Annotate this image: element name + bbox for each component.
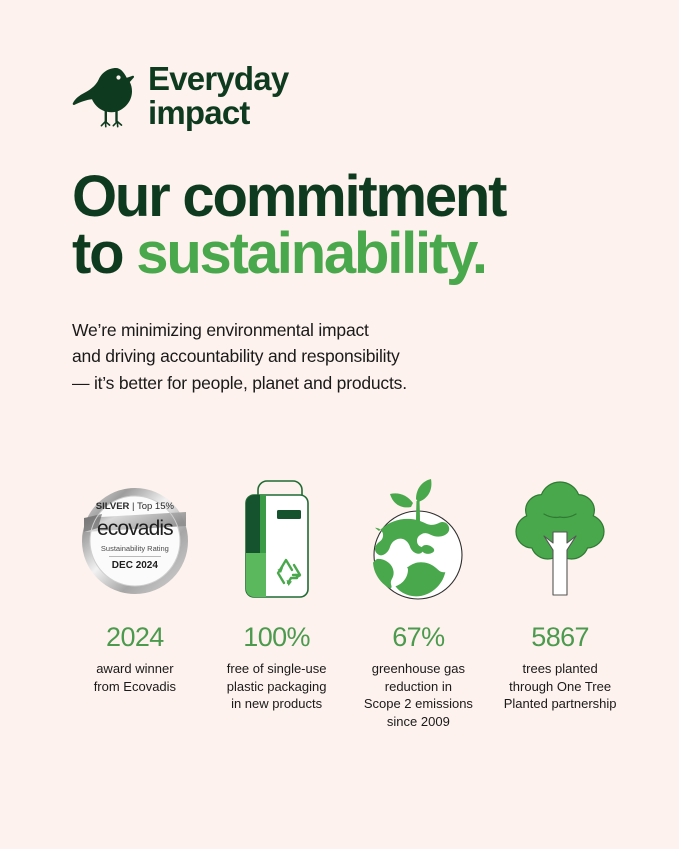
- stat-value: 67%: [392, 624, 444, 651]
- stat-value: 5867: [531, 624, 589, 651]
- stat-caption: greenhouse gas reduction in Scope 2 emis…: [364, 660, 473, 730]
- caption-line: since 2009: [387, 714, 450, 729]
- stat-value: 2024: [106, 624, 164, 651]
- brand-name: Everyday impact: [148, 62, 288, 129]
- brand-name-line2: impact: [148, 96, 288, 130]
- ecovadis-medal-icon: SILVER | Top 15% ecovadis Sustainability…: [76, 481, 194, 599]
- stat-item-emissions: 67% greenhouse gas reduction in Scope 2 …: [348, 470, 490, 730]
- caption-line: through One Tree: [509, 679, 611, 694]
- intro-line-3: — it’s better for people, planet and pro…: [72, 373, 407, 393]
- recyclable-packaging-icon: [231, 477, 323, 603]
- badge-brand: ecovadis: [97, 518, 173, 539]
- stat-art: SILVER | Top 15% ecovadis Sustainability…: [64, 470, 206, 610]
- stat-art: [489, 470, 631, 610]
- brand-logo: Everyday impact: [72, 0, 607, 130]
- stat-item-ecovadis: SILVER | Top 15% ecovadis Sustainability…: [64, 470, 206, 695]
- globe-sprout-icon: [363, 473, 473, 607]
- badge-divider-rule: [109, 556, 161, 557]
- caption-line: free of single-use: [227, 661, 327, 676]
- stats-row: SILVER | Top 15% ecovadis Sustainability…: [64, 470, 631, 730]
- stat-value: 100%: [243, 624, 310, 651]
- caption-line: trees planted: [523, 661, 598, 676]
- headline-line2-accent: sustainability.: [136, 221, 485, 286]
- tree-icon: [508, 476, 612, 604]
- caption-line: Planted partnership: [504, 696, 617, 711]
- stat-caption: trees planted through One Tree Planted p…: [504, 660, 617, 713]
- caption-line: plastic packaging: [227, 679, 327, 694]
- badge-date: DEC 2024: [112, 560, 158, 571]
- infographic-page: Everyday impact Our commitment to sustai…: [0, 0, 679, 849]
- caption-line: greenhouse gas: [372, 661, 465, 676]
- bird-icon: [72, 62, 134, 130]
- badge-rating-label: Sustainability Rating: [101, 544, 169, 553]
- headline-line1: Our commitment: [72, 164, 505, 229]
- stat-art: [348, 470, 490, 610]
- headline-line2-prefix: to: [72, 221, 136, 286]
- stat-item-trees: 5867 trees planted through One Tree Plan…: [489, 470, 631, 713]
- caption-line: Scope 2 emissions: [364, 696, 473, 711]
- caption-line: award winner: [96, 661, 173, 676]
- caption-line: in new products: [231, 696, 322, 711]
- stat-art: [206, 470, 348, 610]
- caption-line: reduction in: [385, 679, 452, 694]
- intro-line-1: We’re minimizing environmental impact: [72, 320, 369, 340]
- badge-rank: Top 15%: [137, 501, 174, 512]
- page-title: Our commitment to sustainability.: [72, 168, 607, 283]
- intro-paragraph: We’re minimizing environmental impact an…: [72, 317, 607, 397]
- stat-caption: award winner from Ecovadis: [94, 660, 176, 695]
- badge-tier-line: SILVER | Top 15%: [96, 501, 174, 512]
- brand-name-line1: Everyday: [148, 62, 288, 96]
- caption-line: from Ecovadis: [94, 679, 176, 694]
- badge-divider: |: [132, 501, 134, 512]
- badge-tier: SILVER: [96, 501, 130, 512]
- stat-item-packaging: 100% free of single-use plastic packagin…: [206, 470, 348, 713]
- intro-line-2: and driving accountability and responsib…: [72, 346, 400, 366]
- stat-caption: free of single-use plastic packaging in …: [227, 660, 327, 713]
